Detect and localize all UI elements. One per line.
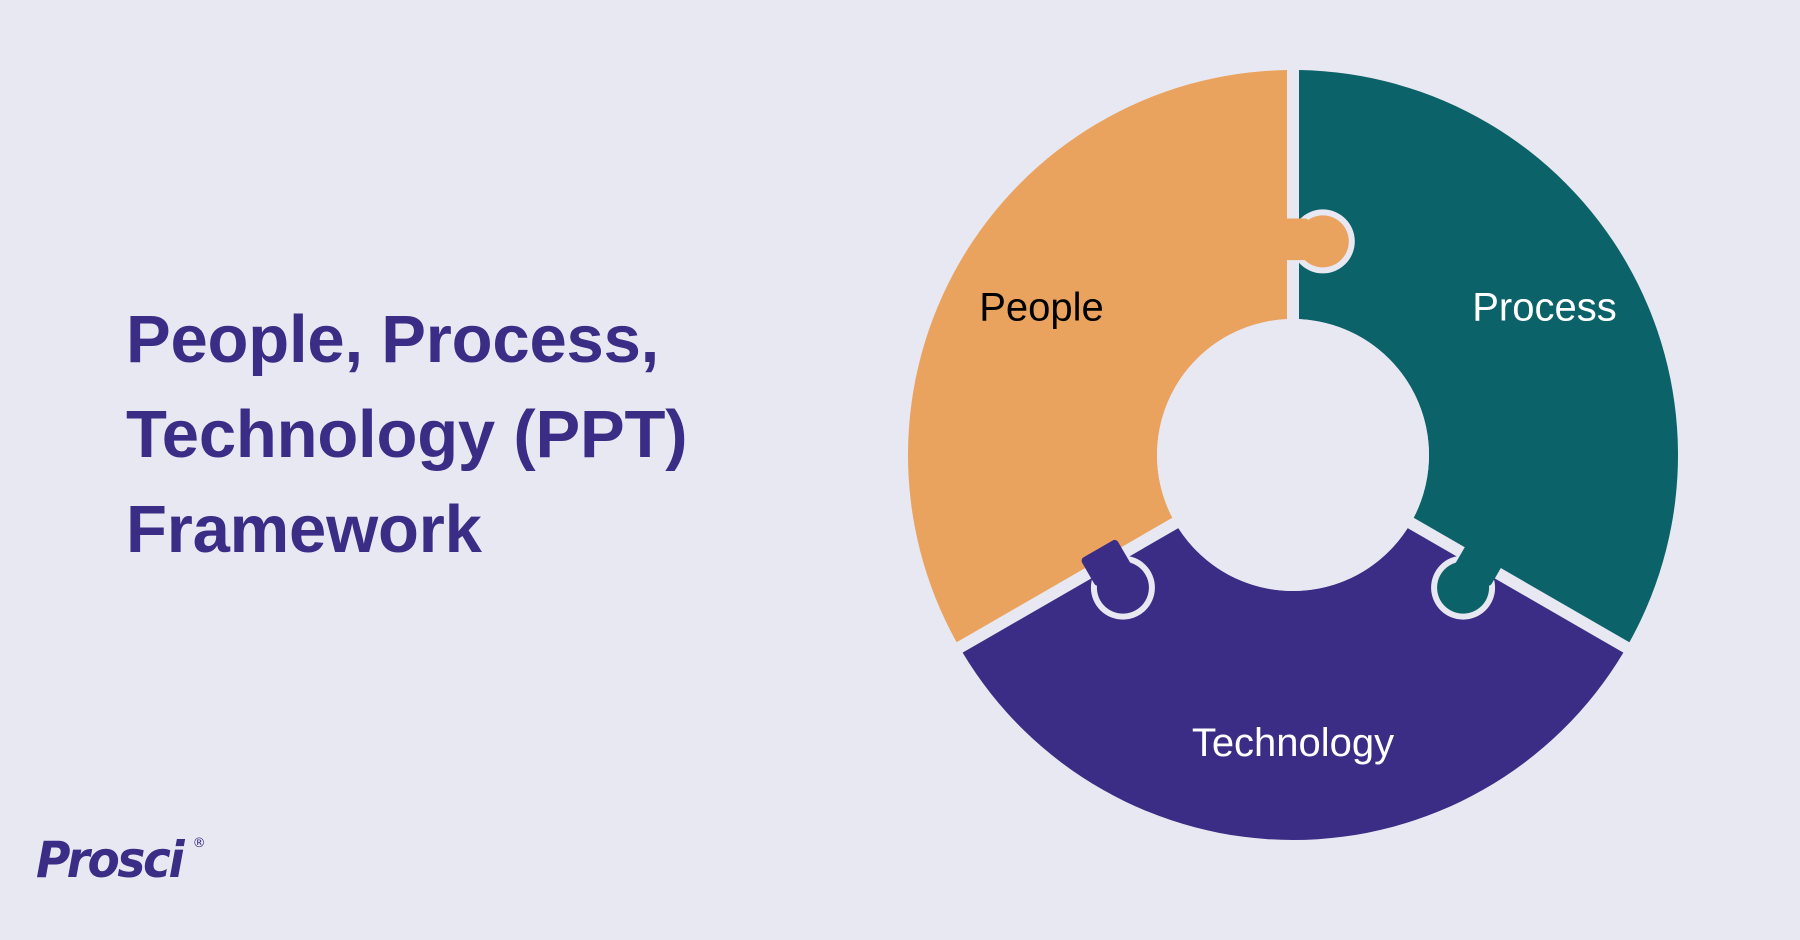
segment-label-people: People — [979, 285, 1104, 329]
segment-label-process: Process — [1472, 285, 1617, 329]
prosci-logo: Prosci ® — [36, 835, 206, 885]
title-line-2: Technology (PPT) — [126, 387, 826, 482]
slide-canvas: People, Process, Technology (PPT) Framew… — [0, 0, 1800, 940]
puzzle-knob-people-technology — [1097, 562, 1149, 614]
ppt-puzzle-diagram: People Process Technology — [880, 42, 1720, 882]
donut-hole — [1157, 319, 1429, 591]
puzzle-knob-people-process — [1297, 215, 1349, 267]
puzzle-knob-process-technology — [1437, 562, 1489, 614]
title-line-3: Framework — [126, 482, 826, 577]
title-line-1: People, Process, — [126, 292, 826, 387]
registered-trademark-icon: ® — [193, 837, 206, 850]
segment-label-technology: Technology — [1192, 721, 1394, 765]
logo-wordmark: Prosci — [36, 835, 182, 885]
page-title: People, Process, Technology (PPT) Framew… — [126, 292, 826, 577]
ppt-puzzle-svg: People Process Technology — [880, 42, 1720, 882]
